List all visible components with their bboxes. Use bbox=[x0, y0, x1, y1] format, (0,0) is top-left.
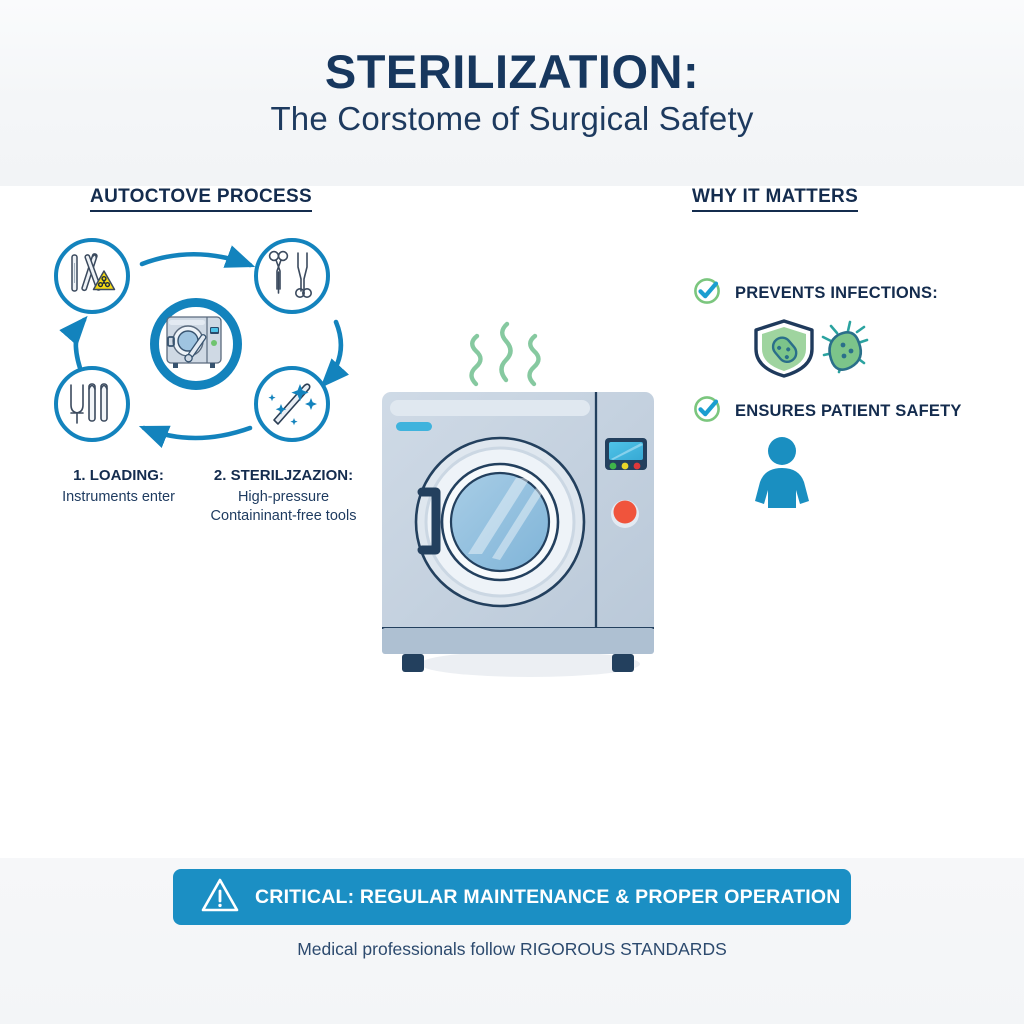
process-cycle-diagram bbox=[54, 238, 364, 453]
benefit-label-1: PREVENTS INFECTIONS: bbox=[735, 284, 938, 303]
critical-banner-text: CRITICAL: REGULAR MAINTENANCE & PROPER O… bbox=[255, 886, 841, 909]
page-title: STERILIZATION: bbox=[325, 48, 699, 95]
biohazard-instruments-icon bbox=[63, 245, 121, 308]
scalpel-tray-icon bbox=[65, 375, 119, 434]
power-button-icon bbox=[611, 500, 639, 528]
benefit-label-2: ENSURES PATIENT SAFETY bbox=[735, 402, 962, 421]
header-band: STERILIZATION: The Corstome of Surgical … bbox=[0, 0, 1024, 187]
step-1-desc: Instruments enter bbox=[40, 488, 197, 507]
patient-person-icon bbox=[744, 435, 992, 514]
footer-band: CRITICAL: REGULAR MAINTENANCE & PROPER O… bbox=[0, 858, 1024, 1024]
sparkle-scalpel-icon bbox=[264, 374, 320, 435]
why-it-matters-heading: WHY IT MATTERS bbox=[692, 186, 858, 212]
forceps-scissors-icon bbox=[265, 247, 319, 306]
warning-triangle-icon bbox=[201, 877, 239, 918]
autoclave-icon bbox=[163, 311, 229, 378]
critical-banner[interactable]: CRITICAL: REGULAR MAINTENANCE & PROPER O… bbox=[173, 869, 851, 925]
top-highlight bbox=[390, 400, 590, 416]
control-panel-display bbox=[605, 438, 647, 470]
page-subtitle: The Corstome of Surgical Safety bbox=[270, 101, 753, 137]
benefit-row-1: PREVENTS INFECTIONS: bbox=[692, 276, 992, 311]
cycle-node-loading bbox=[54, 366, 130, 442]
check-circle-icon bbox=[692, 394, 722, 429]
process-step-1: 1. LOADING: Instruments enter bbox=[36, 467, 201, 525]
autoclave-illustration bbox=[360, 296, 700, 686]
led-yellow bbox=[622, 463, 629, 470]
step-2-title: 2. STERILJZAZION: bbox=[205, 467, 362, 486]
left-heading-wrap: AUTOCTOVE PROCESS bbox=[36, 186, 366, 212]
foot-right bbox=[612, 654, 634, 672]
benefit-row-2: ENSURES PATIENT SAFETY bbox=[692, 394, 992, 429]
foot-left bbox=[402, 654, 424, 672]
step-2-desc: High-pressure Containinant-free tools bbox=[205, 488, 362, 526]
cycle-node-sterile bbox=[254, 366, 330, 442]
status-strip bbox=[396, 422, 432, 431]
step-1-title: 1. LOADING: bbox=[40, 467, 197, 486]
process-step-2: 2. STERILJZAZION: High-pressure Containi… bbox=[201, 467, 366, 525]
right-heading-wrap: WHY IT MATTERS bbox=[692, 186, 992, 212]
autoclave-process-heading: AUTOCTOVE PROCESS bbox=[90, 186, 312, 212]
led-red bbox=[634, 463, 641, 470]
footer-note: Medical professionals follow RIGOROUS ST… bbox=[0, 939, 1024, 960]
floor-shadow bbox=[420, 651, 640, 677]
steam-wisps-icon bbox=[472, 324, 539, 384]
cycle-node-contaminated bbox=[54, 238, 130, 314]
check-circle-icon bbox=[692, 276, 722, 311]
benefit-item-infections: PREVENTS INFECTIONS: bbox=[692, 276, 992, 384]
autoclave-process-section: AUTOCTOVE PROCESS bbox=[36, 186, 366, 525]
infographic-canvas: STERILIZATION: The Corstome of Surgical … bbox=[0, 0, 1024, 1024]
cycle-node-autoclave bbox=[150, 298, 242, 390]
process-steps: 1. LOADING: Instruments enter 2. STERILJ… bbox=[36, 467, 366, 525]
base-plinth bbox=[382, 628, 654, 654]
shield-germ-icon bbox=[744, 317, 992, 384]
benefit-item-patient-safety: ENSURES PATIENT SAFETY bbox=[692, 394, 992, 514]
led-green bbox=[610, 463, 617, 470]
cycle-node-forceps bbox=[254, 238, 330, 314]
why-it-matters-section: WHY IT MATTERS PREVENTS INFECTIONS: bbox=[692, 186, 992, 514]
